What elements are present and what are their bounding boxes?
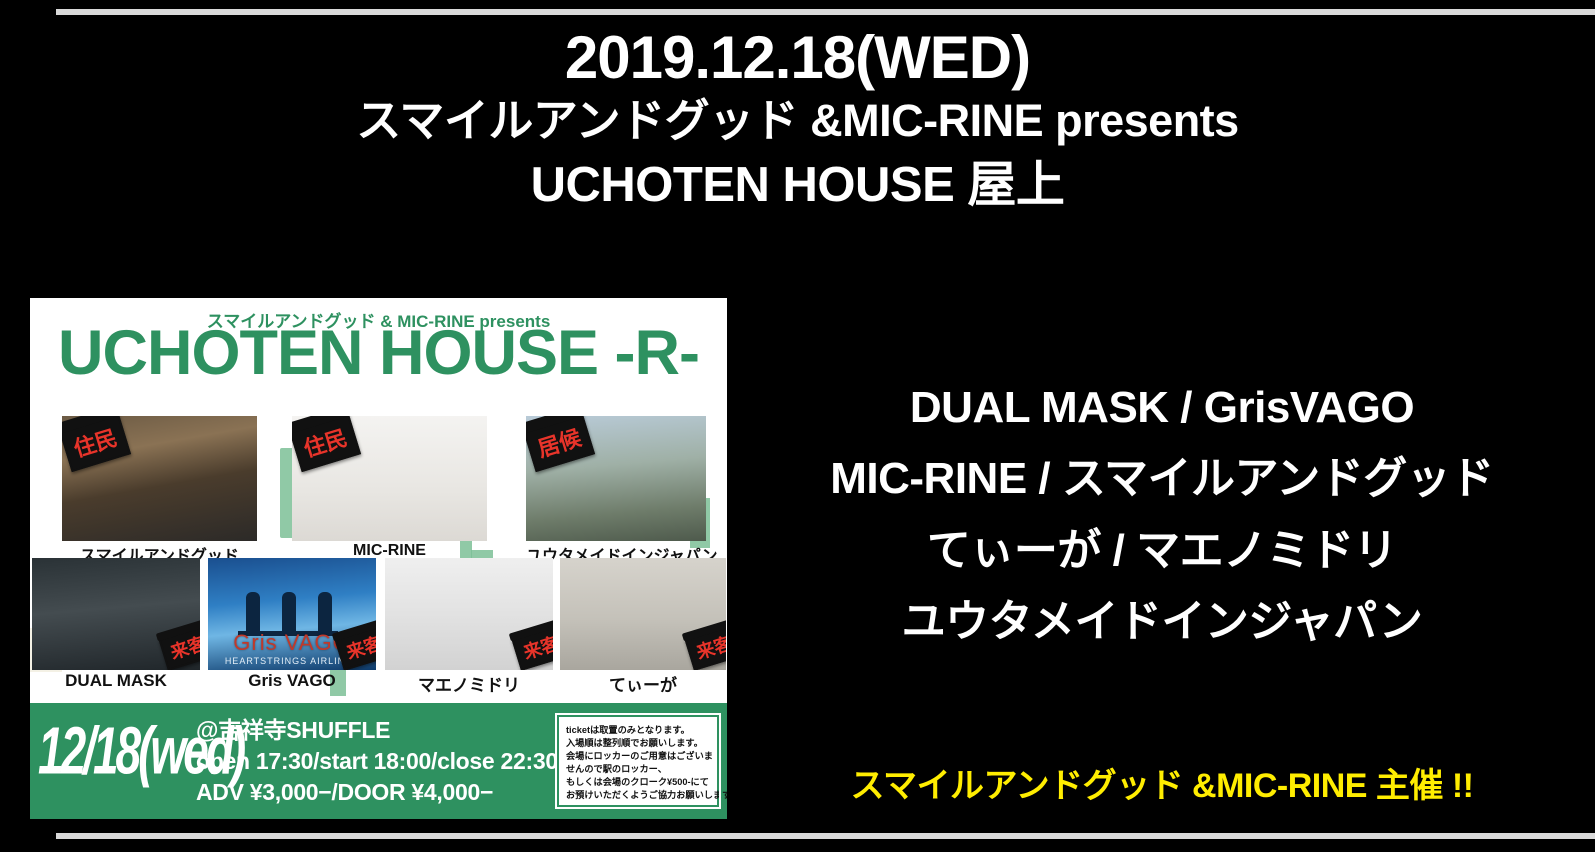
lineup-line: ユウタメイドインジャパン — [733, 586, 1591, 657]
status-badge: 来客 — [684, 623, 726, 670]
status-badge: 来客 — [158, 623, 200, 670]
ticket-price: ADV ¥3,000−/DOOR ¥4,000− — [196, 777, 558, 808]
artist-photo: 居候 — [526, 416, 706, 541]
artist-photo: 住民 — [292, 416, 487, 541]
ticket-note-line: 会場にロッカーのご用意はございま — [566, 750, 712, 763]
artist-cell: 来客 マエノミドリ — [385, 558, 553, 670]
lineup-line: DUAL MASK / GrisVAGO — [733, 372, 1591, 443]
ticket-notes-box: ticketは取置のみとなります。 入場順は整列順でお願いします。 会場にロッカ… — [557, 715, 719, 807]
decor-shape — [282, 592, 296, 632]
artist-photo-row-1: 住民 スマイルアンドグッド 住民 MIC-RINE 居候 ユウタメイドインジャパ… — [30, 416, 727, 546]
ticket-note-line: せんので駅のロッカー、 — [566, 763, 712, 776]
venue-info: @吉祥寺SHUFFLE open 17:30/start 18:00/close… — [196, 715, 558, 808]
status-badge: 住民 — [292, 416, 361, 472]
artist-name-label: DUAL MASK — [32, 671, 200, 691]
artist-cell: 住民 MIC-RINE — [292, 416, 487, 541]
event-times: open 17:30/start 18:00/close 22:30 — [196, 746, 558, 777]
artist-photo: 来客 — [560, 558, 726, 670]
flyer-title: UCHOTEN HOUSE -R- — [30, 322, 727, 385]
status-badge: 居候 — [526, 416, 595, 472]
artist-photo: 来客 — [32, 558, 200, 670]
artist-name-label: Gris VAGO — [208, 671, 376, 691]
artist-cell: Gris VAGO HEARTSTRINGS AIRLINES 来客 Gris … — [208, 558, 376, 670]
artist-photo: 住民 — [62, 416, 257, 541]
artist-name-label: てぃーが — [560, 671, 726, 696]
flyer-image: スマイルアンドグッド & MIC-RINE presents UCHOTEN H… — [30, 298, 727, 819]
artist-photo: Gris VAGO HEARTSTRINGS AIRLINES 来客 — [208, 558, 376, 670]
artist-name-label: マエノミドリ — [385, 671, 553, 696]
venue-name: @吉祥寺SHUFFLE — [196, 715, 558, 746]
lineup-list: DUAL MASK / GrisVAGO MIC-RINE / スマイルアンドグ… — [733, 372, 1591, 657]
artist-cell: 来客 DUAL MASK — [32, 558, 200, 670]
event-title: UCHOTEN HOUSE 屋上 — [0, 152, 1595, 218]
lineup-line: MIC-RINE / スマイルアンドグッド — [733, 443, 1591, 514]
top-divider-rule — [56, 9, 1595, 15]
artist-photo: 来客 — [385, 558, 553, 670]
ticket-note-line: もしくは会場のクローク¥500-にて — [566, 776, 712, 789]
ticket-note-line: ticketは取置のみとなります。 — [566, 724, 712, 737]
status-badge: 来客 — [511, 623, 553, 670]
decor-shape — [318, 592, 332, 632]
host-note: スマイルアンドグッド &MIC-RINE 主催 !! — [733, 758, 1591, 807]
poster-page: 2019.12.18(WED) スマイルアンドグッド &MIC-RINE pre… — [0, 0, 1595, 852]
ticket-note-line: 入場順は整列順でお願いします。 — [566, 737, 712, 750]
ticket-note-line: お預けいただくようご協力お願いします。 — [566, 789, 712, 802]
poster-header: 2019.12.18(WED) スマイルアンドグッド &MIC-RINE pre… — [0, 24, 1595, 218]
flyer-info-band: 12/18(wed) @吉祥寺SHUFFLE open 17:30/start … — [30, 703, 727, 819]
artist-cell: 来客 てぃーが — [560, 558, 726, 670]
lineup-line: てぃーが / マエノミドリ — [733, 515, 1591, 586]
bottom-divider-rule — [56, 833, 1595, 839]
artist-cell: 住民 スマイルアンドグッド — [62, 416, 257, 541]
decor-shape — [246, 592, 260, 632]
artist-cell: 居候 ユウタメイドインジャパン — [526, 416, 706, 541]
status-badge: 住民 — [62, 416, 131, 472]
artist-photo-row-2: 来客 DUAL MASK Gris VAGO HEARTSTRINGS AIRL… — [30, 558, 727, 670]
event-date: 2019.12.18(WED) — [0, 24, 1595, 91]
event-presents-line: スマイルアンドグッド &MIC-RINE presents — [0, 91, 1595, 152]
